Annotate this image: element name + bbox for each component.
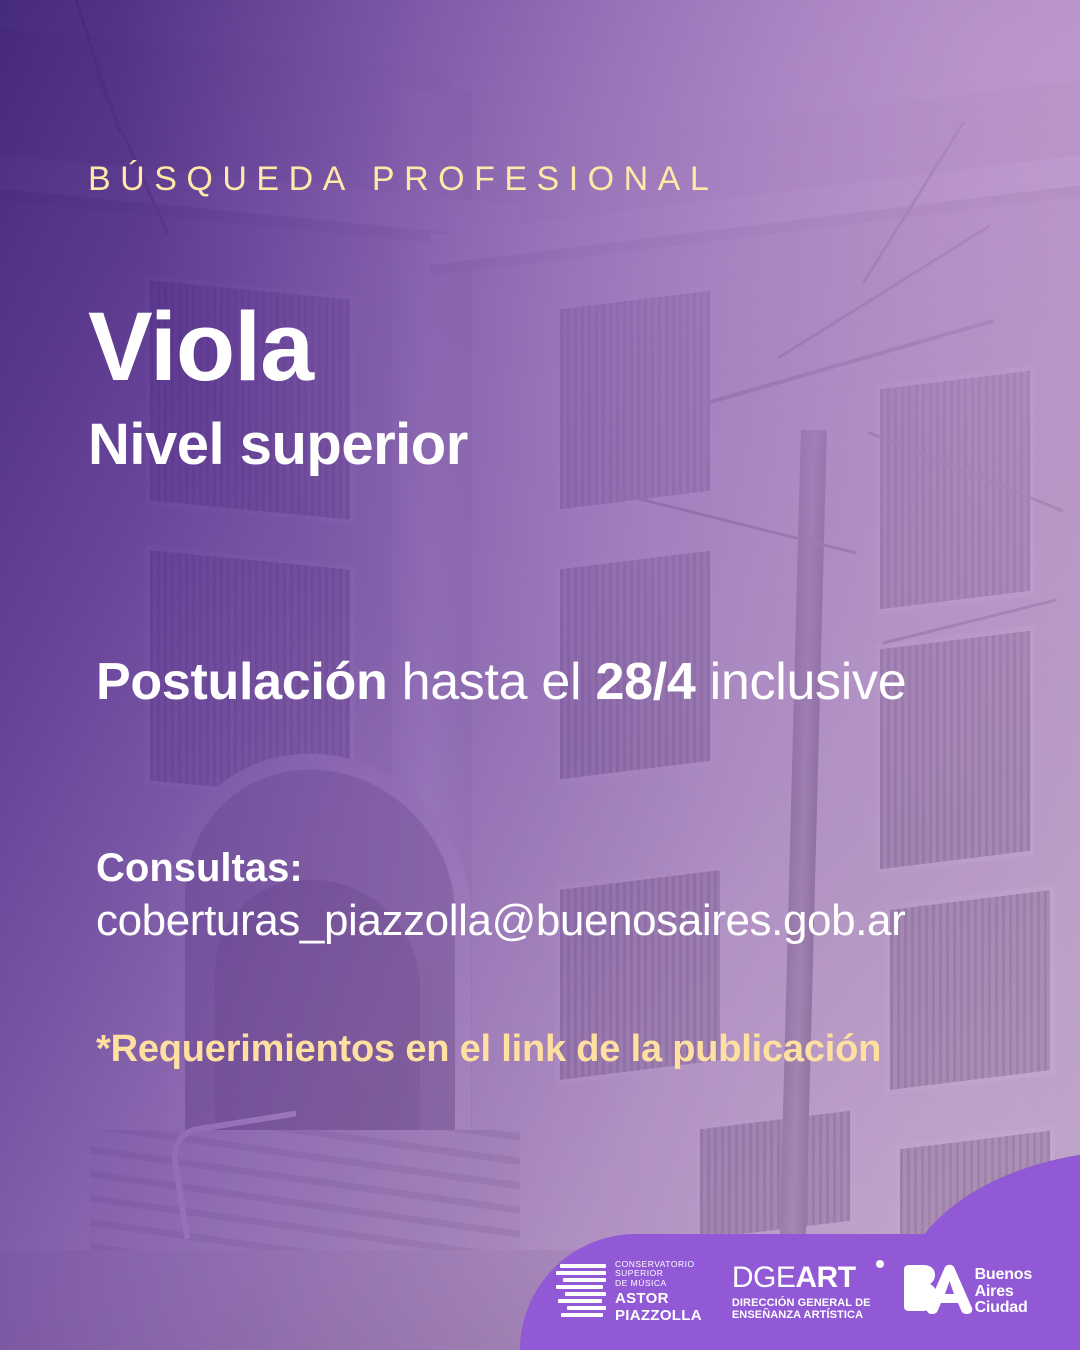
conservatorio-name1: ASTOR [615, 1291, 702, 1307]
logo-conservatorio-astor-piazzolla: CONSERVATORIO SUPERIOR DE MÚSICA ASTOR P… [556, 1260, 702, 1324]
ba-line1: Buenos [975, 1267, 1032, 1284]
conservatorio-mark-icon [556, 1262, 608, 1322]
deadline-bold-date: 28/4 [595, 653, 695, 711]
dgeart-light: DGE [732, 1261, 796, 1294]
ba-monogram-icon [901, 1264, 975, 1320]
requirements-note: *Requerimientos en el link de la publica… [96, 1028, 881, 1071]
deadline-bold-postulacion: Postulación [96, 653, 387, 711]
conservatorio-text: CONSERVATORIO SUPERIOR DE MÚSICA ASTOR P… [615, 1260, 702, 1324]
ba-text: Buenos Aires Ciudad [975, 1267, 1032, 1318]
page-subtitle: Nivel superior [88, 415, 468, 476]
page-title: Viola [88, 298, 313, 395]
deadline-plain-hasta: hasta el [387, 653, 595, 711]
deadline-plain-inclusive: inclusive [695, 653, 906, 711]
dgeart-bold: ART [795, 1261, 855, 1294]
dgeart-dot-icon [876, 1260, 884, 1268]
conservatorio-name2: PIAZZOLLA [615, 1308, 702, 1324]
logo-dgeart: DGEART DIRECCIÓN GENERAL DE ENSEÑANZA AR… [732, 1262, 871, 1322]
dgeart-text: DGEART DIRECCIÓN GENERAL DE ENSEÑANZA AR… [732, 1262, 871, 1322]
footer-logo-bar: CONSERVATORIO SUPERIOR DE MÚSICA ASTOR P… [520, 1234, 1080, 1350]
dgeart-wordmark: DGEART [732, 1262, 871, 1294]
deadline-line: Postulación hasta el 28/4 inclusive [96, 652, 906, 712]
poster-content: BÚSQUEDA PROFESIONAL Viola Nivel superio… [0, 0, 1080, 1350]
consultas-label: Consultas: [96, 846, 303, 891]
ba-line3: Ciudad [975, 1300, 1032, 1317]
conservatorio-line3: DE MÚSICA [615, 1279, 702, 1289]
contact-email[interactable]: coberturas_piazzolla@buenosaires.gob.ar [96, 896, 905, 946]
ba-line2: Aires [975, 1284, 1032, 1301]
dgeart-sub1: DIRECCIÓN GENERAL DE [732, 1297, 871, 1310]
dgeart-sub2: ENSEÑANZA ARTÍSTICA [732, 1309, 871, 1322]
logo-buenos-aires-ciudad: Buenos Aires Ciudad [901, 1264, 1032, 1320]
kicker-label: BÚSQUEDA PROFESIONAL [88, 160, 718, 199]
poster-canvas: BÚSQUEDA PROFESIONAL Viola Nivel superio… [0, 0, 1080, 1350]
